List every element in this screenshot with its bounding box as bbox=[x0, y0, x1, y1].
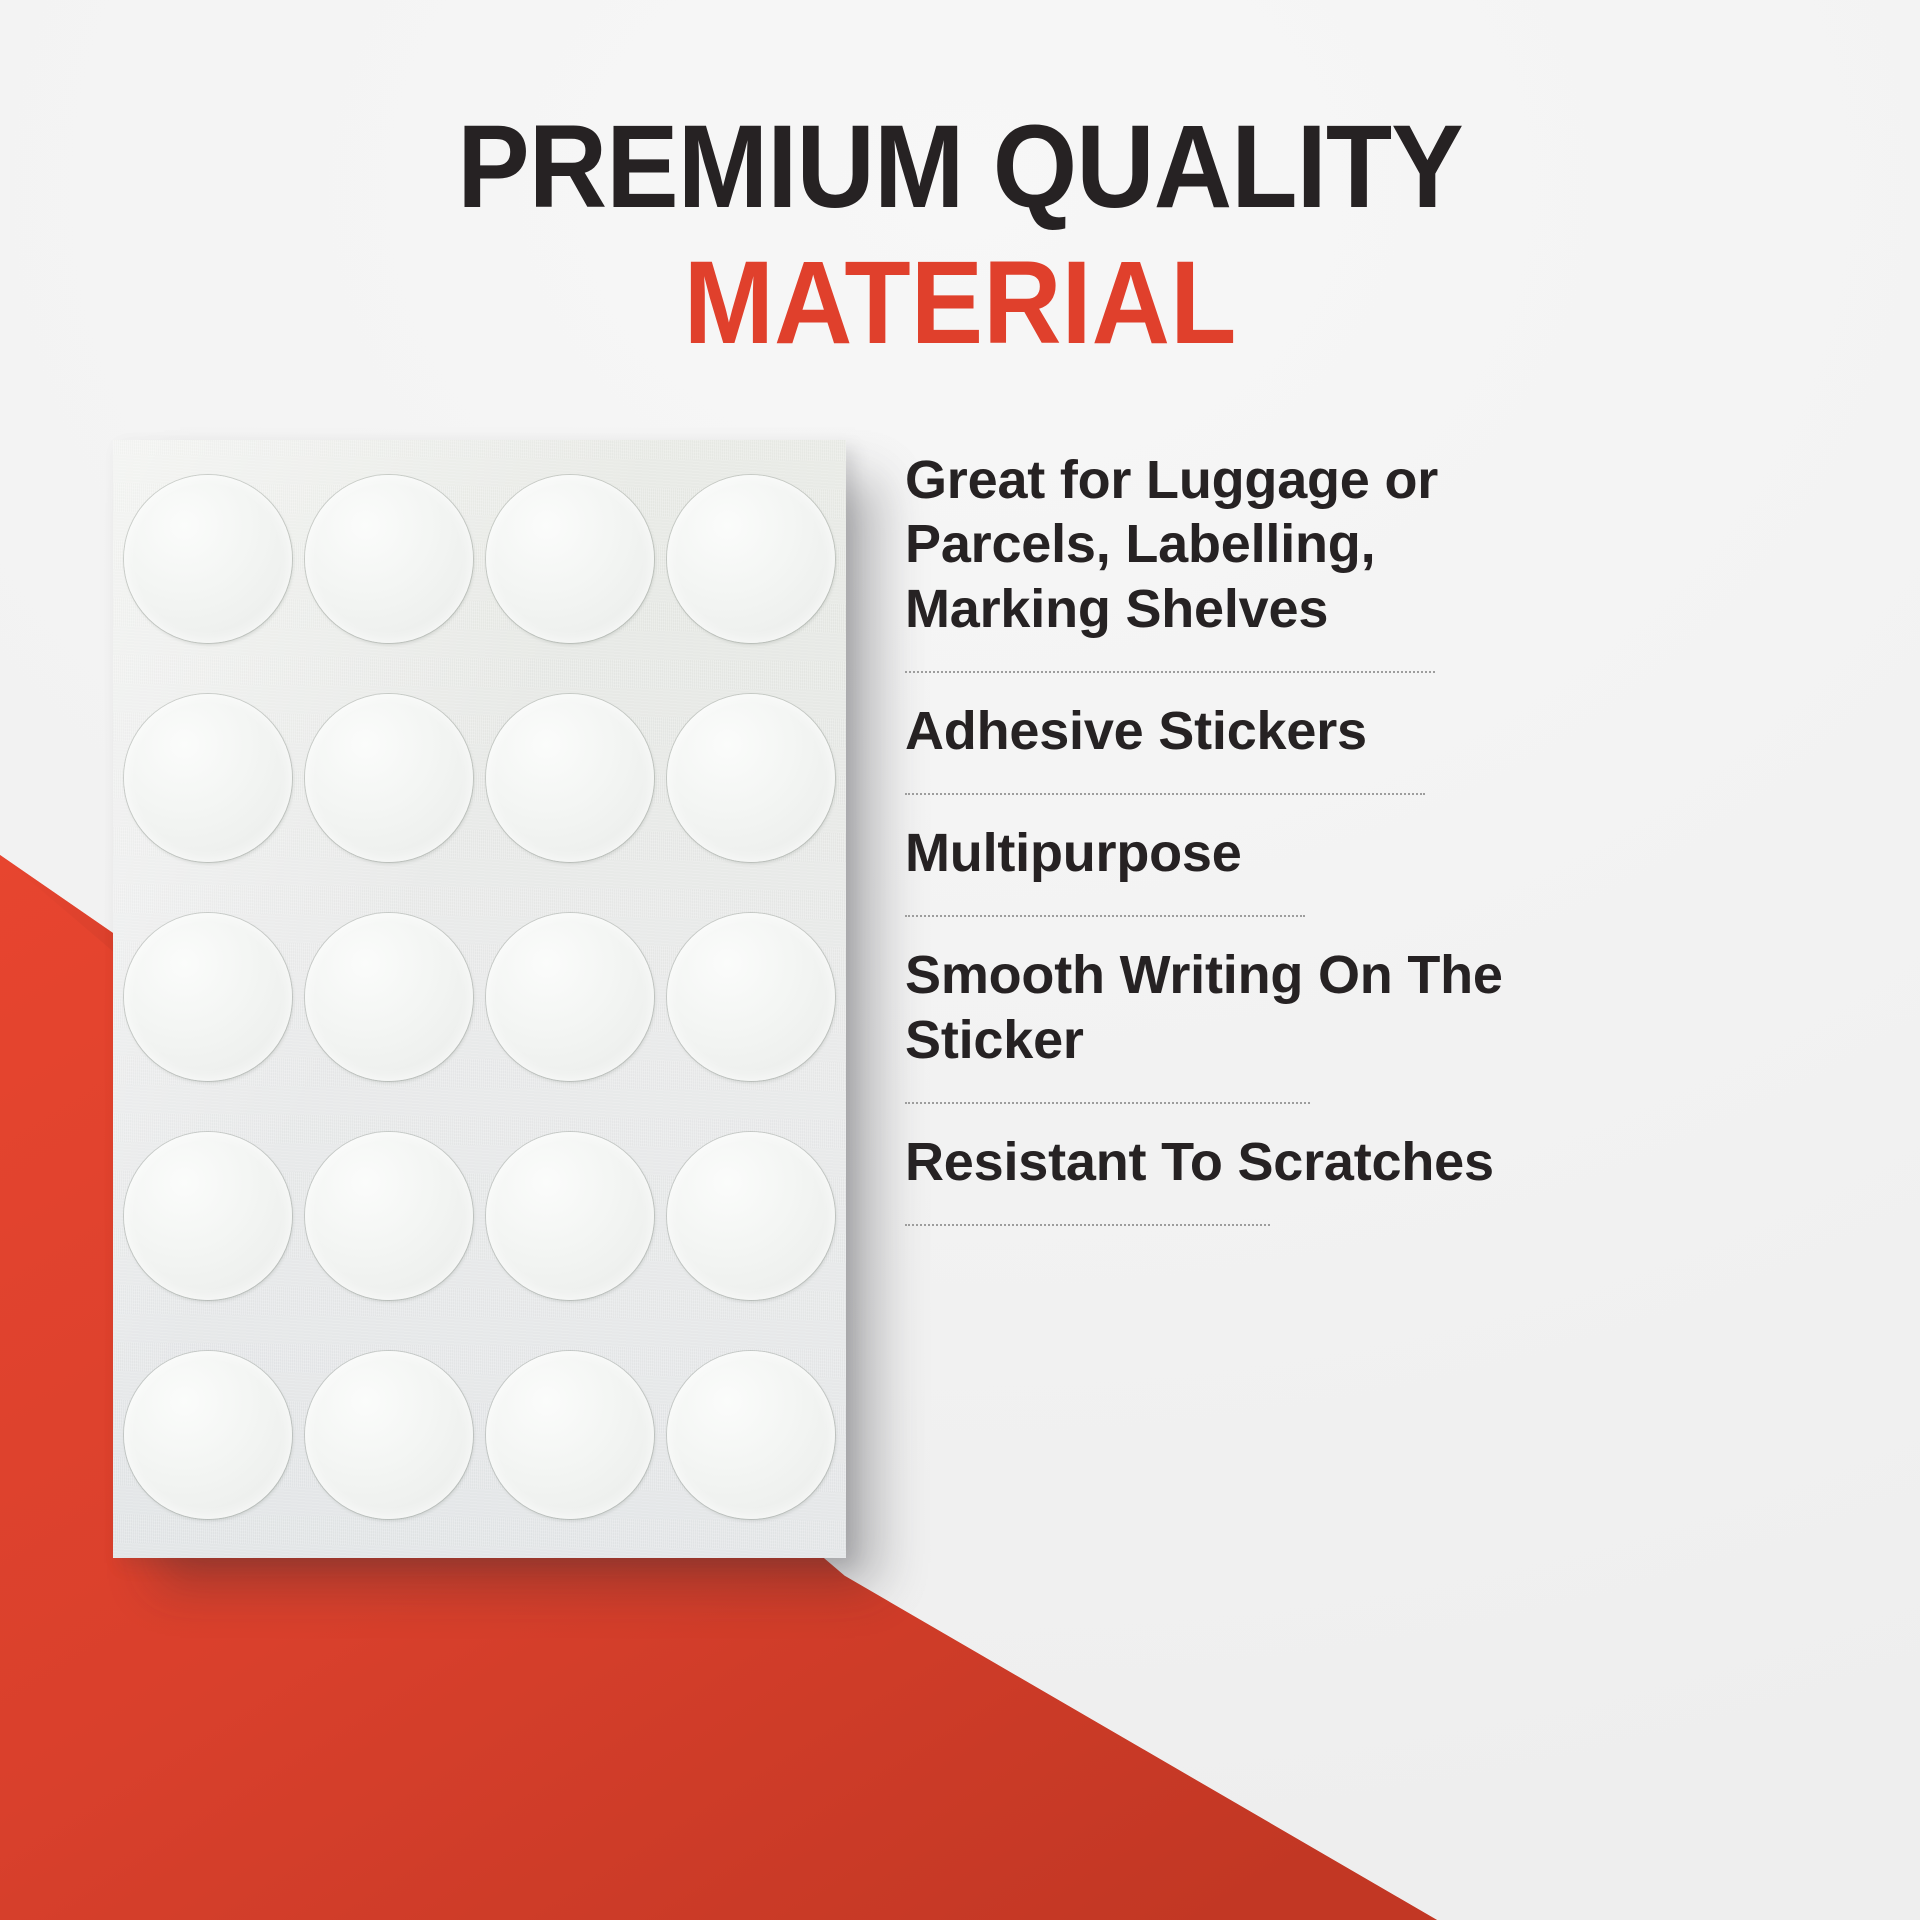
feature-item-multipurpose: Multipurpose bbox=[905, 821, 1545, 885]
circle-sticker-icon bbox=[486, 1132, 654, 1300]
sticker-dot-grid bbox=[113, 440, 846, 1558]
circle-sticker-icon bbox=[124, 1351, 292, 1519]
feature-divider bbox=[905, 1102, 1310, 1104]
circle-sticker-icon bbox=[305, 475, 473, 643]
page-title: PREMIUM QUALITY MATERIAL bbox=[0, 108, 1920, 362]
sticker-cell bbox=[480, 450, 661, 669]
circle-sticker-icon bbox=[305, 694, 473, 862]
title-line-accent: MATERIAL bbox=[77, 244, 1843, 362]
circle-sticker-icon bbox=[486, 694, 654, 862]
sticker-cell bbox=[480, 1325, 661, 1544]
feature-item-resistant-to-scratches: Resistant To Scratches bbox=[905, 1130, 1545, 1194]
circle-sticker-icon bbox=[305, 1351, 473, 1519]
feature-divider bbox=[905, 915, 1305, 917]
circle-sticker-icon bbox=[124, 913, 292, 1081]
feature-divider bbox=[905, 1224, 1270, 1226]
circle-sticker-icon bbox=[486, 475, 654, 643]
circle-sticker-icon bbox=[305, 1132, 473, 1300]
circle-sticker-icon bbox=[667, 913, 835, 1081]
sticker-cell bbox=[661, 450, 842, 669]
circle-sticker-icon bbox=[124, 475, 292, 643]
sticker-cell bbox=[298, 1325, 479, 1544]
circle-sticker-icon bbox=[486, 1351, 654, 1519]
title-line-primary: PREMIUM QUALITY bbox=[77, 108, 1843, 226]
product-image-sticker-sheet bbox=[113, 440, 846, 1558]
sticker-cell bbox=[480, 1106, 661, 1325]
sticker-cell bbox=[298, 669, 479, 888]
sticker-cell bbox=[661, 669, 842, 888]
feature-item-smooth-writing: Smooth Writing On The Sticker bbox=[905, 943, 1545, 1072]
sticker-cell bbox=[117, 450, 298, 669]
sticker-cell bbox=[480, 669, 661, 888]
feature-divider bbox=[905, 793, 1425, 795]
sticker-cell bbox=[298, 450, 479, 669]
circle-sticker-icon bbox=[486, 913, 654, 1081]
sticker-cell bbox=[661, 1106, 842, 1325]
circle-sticker-icon bbox=[305, 913, 473, 1081]
circle-sticker-icon bbox=[667, 475, 835, 643]
sticker-cell bbox=[298, 888, 479, 1107]
premium-quality-material-poster: PREMIUM QUALITY MATERIAL bbox=[0, 0, 1920, 1920]
circle-sticker-icon bbox=[124, 1132, 292, 1300]
feature-divider bbox=[905, 671, 1435, 673]
feature-list: Great for Luggage or Parcels, Labelling,… bbox=[905, 448, 1545, 1226]
circle-sticker-icon bbox=[124, 694, 292, 862]
sticker-cell bbox=[661, 888, 842, 1107]
sticker-cell bbox=[298, 1106, 479, 1325]
sticker-cell bbox=[117, 669, 298, 888]
sticker-cell bbox=[117, 888, 298, 1107]
circle-sticker-icon bbox=[667, 1351, 835, 1519]
sticker-cell bbox=[117, 1106, 298, 1325]
circle-sticker-icon bbox=[667, 1132, 835, 1300]
circle-sticker-icon bbox=[667, 694, 835, 862]
sticker-cell bbox=[661, 1325, 842, 1544]
feature-item-adhesive-stickers: Adhesive Stickers bbox=[905, 699, 1545, 763]
sticker-cell bbox=[480, 888, 661, 1107]
feature-item-luggage-parcels-labelling: Great for Luggage or Parcels, Labelling,… bbox=[905, 448, 1545, 641]
sticker-cell bbox=[117, 1325, 298, 1544]
